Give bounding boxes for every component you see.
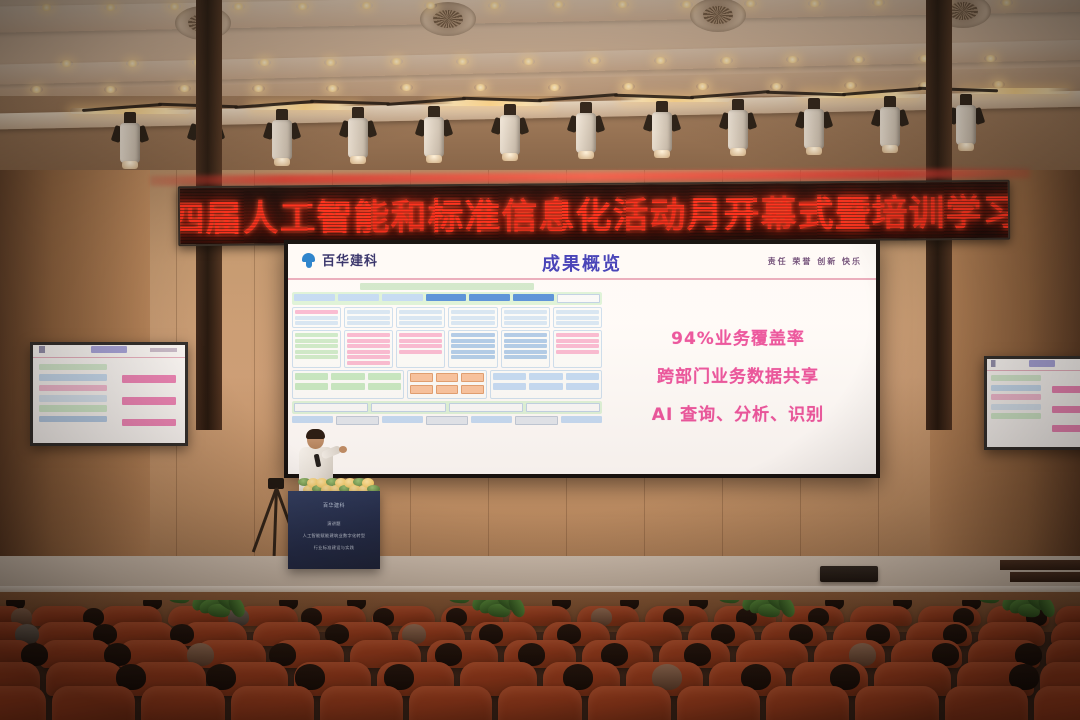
ceiling-downlight-icon (522, 58, 535, 65)
spotlight-body (880, 107, 900, 147)
diagram-line (399, 339, 442, 343)
diagram-line (451, 350, 494, 354)
auditorium-seat (855, 686, 938, 720)
stage-spotlight (424, 106, 444, 160)
diagram-chip (292, 416, 333, 423)
mon-bullet (122, 397, 176, 405)
diagram-column (292, 330, 341, 368)
conference-hall-photo: 第四届人工智能和标准信息化活动月开幕式暨培训学习会 百华建科 成果概览 责任 荣… (0, 0, 1080, 720)
diagram-chip (295, 383, 328, 390)
slide-bullet-list: 94%业务覆盖率 跨部门业务数据共享 AI 查询、分析、识别 (606, 280, 876, 468)
diagram-line (399, 350, 442, 354)
diagram-column (501, 307, 550, 328)
diagram-chip (515, 416, 558, 425)
diagram-chip (449, 403, 523, 412)
diagram-column (396, 307, 445, 328)
diagram-line (399, 333, 442, 337)
spotlight-body (728, 110, 748, 150)
spotlight-lens (654, 150, 670, 158)
ceiling-downlight-icon (1000, 0, 1013, 6)
diagram-line (556, 350, 599, 354)
mon-slide-body (987, 371, 1080, 447)
diagram-line (556, 310, 599, 314)
diagram-line (295, 344, 338, 348)
diagram-column (553, 330, 602, 368)
diagram-chip (410, 385, 433, 394)
mon-diagram-row (991, 394, 1040, 400)
mon-logo-icon (991, 360, 1015, 366)
diagram-chip (295, 373, 328, 380)
mon-slide-title (1029, 360, 1055, 367)
mon-bullet (122, 419, 176, 427)
air-diffuser-icon (690, 0, 746, 32)
ceiling-downlight-icon (720, 57, 733, 64)
diagram-line (295, 339, 338, 343)
diagram-line (556, 333, 599, 337)
led-event-banner: 第四届人工智能和标准信息化活动月开幕式暨培训学习会 (178, 180, 1010, 247)
spotlight-body (804, 109, 824, 149)
diagram-chip (471, 416, 512, 423)
stage-spotlight (500, 104, 520, 158)
diagram-chip (294, 403, 368, 412)
diagram-column (448, 307, 497, 328)
diagram-chip (426, 294, 467, 301)
ceiling-downlight-icon (696, 83, 709, 90)
diagram-chip (529, 373, 562, 380)
mon-bullet (1052, 425, 1080, 432)
diagram-line (556, 339, 599, 343)
auditorium-seat (52, 686, 135, 720)
stage-spotlight (348, 107, 368, 161)
presenter-hand (339, 446, 347, 453)
diagram-line (347, 361, 390, 365)
diagram-line (504, 321, 547, 325)
diagram-chip (557, 294, 600, 303)
plant-leaf (167, 600, 190, 604)
spotlight-lens (806, 147, 822, 155)
diagram-chip (331, 373, 364, 380)
auditorium-seat (409, 686, 492, 720)
podium-text-line: 演讲题 (327, 521, 340, 527)
diagram-line (399, 310, 442, 314)
spotlight-lens (578, 151, 594, 159)
auditorium-seat (945, 686, 1028, 720)
diagram-chip-row (295, 383, 401, 390)
diagram-line (451, 321, 494, 325)
auditorium-seat (320, 686, 403, 720)
slide-bullet: 跨部门业务数据共享 (657, 362, 819, 387)
ceiling-downlight-icon (654, 57, 667, 64)
diagram-column (501, 330, 550, 368)
audience-seating (0, 600, 1080, 720)
presenter-hair (306, 429, 325, 439)
ceiling-downlight-icon (104, 4, 117, 11)
podium: 百华建科 演讲题 人工智能赋能建筑业数字化转型 行业标准建设与实践 (288, 491, 380, 569)
mon-slide-title (91, 346, 127, 353)
stage-spotlight (120, 112, 140, 166)
mon-bullet (1052, 406, 1080, 413)
diagram-chip (526, 403, 600, 412)
left-wall-display (30, 342, 188, 446)
mon-diagram-row (991, 375, 1040, 381)
stage-spotlight (880, 96, 900, 150)
ceiling-downlight-icon (616, 1, 629, 8)
ceiling-downlight-icon (30, 86, 43, 93)
slide-bullet: 94%业务覆盖率 (671, 324, 805, 349)
ceiling-downlight-icon (474, 84, 487, 91)
diagram-line (347, 339, 390, 343)
mon-slide-header (987, 359, 1080, 371)
diagram-line (347, 321, 390, 325)
spotlight-body (348, 118, 368, 158)
auditorium-seat (588, 686, 671, 720)
diagram-line (347, 316, 390, 320)
diagram-line (295, 333, 338, 337)
diagram-chip (436, 385, 459, 394)
diagram-line (504, 339, 547, 343)
diagram-line (504, 350, 547, 354)
spotlight-lens (274, 158, 290, 166)
auditorium-seat (1034, 686, 1080, 720)
diagram-row (292, 292, 602, 305)
mon-diagram-row (991, 413, 1040, 419)
ceiling-downlight-icon (424, 2, 437, 9)
diagram-title-band (360, 283, 534, 290)
spotlight-body (956, 105, 976, 145)
diagram-line (295, 321, 338, 325)
diagram-chip (566, 373, 599, 380)
diagram-chip (513, 294, 554, 301)
diagram-group (490, 370, 602, 400)
mon-bullet (122, 375, 176, 383)
diagram-column (344, 330, 393, 368)
diagram-line (399, 316, 442, 320)
auditorium-seat (231, 686, 314, 720)
mon-slide-body (33, 358, 185, 443)
diagram-line (347, 344, 390, 348)
diagram-line (347, 355, 390, 359)
ceiling-downlight-icon (770, 83, 783, 90)
diagram-row (292, 307, 602, 328)
spotlight-body (576, 113, 596, 153)
spotlight-lens (730, 148, 746, 156)
diagram-chip (566, 383, 599, 390)
mon-diagram-row (991, 385, 1040, 391)
mon-diagram-row (39, 385, 107, 392)
slide-header: 百华建科 成果概览 责任 荣誉 创新 快乐 (288, 244, 876, 280)
diagram-chip (529, 383, 562, 390)
diagram-line (295, 310, 338, 314)
slide-bullet: AI 查询、分析、识别 (652, 400, 824, 425)
podium-logo-text: 百华建科 (323, 502, 345, 509)
right-display-slide (987, 359, 1080, 447)
diagram-line (399, 321, 442, 325)
ceiling-downlight-icon (680, 1, 693, 8)
ceiling-band-rear (0, 0, 1080, 33)
mon-diagram-row (39, 416, 107, 423)
spotlight-lens (882, 145, 898, 153)
diagram-line (295, 316, 338, 320)
ceiling-downlight-icon (808, 0, 821, 7)
auditorium-seat (498, 686, 581, 720)
podium-text-line: 行业标准建设与实践 (314, 545, 354, 551)
auditorium-seat (141, 686, 224, 720)
diagram-column (448, 330, 497, 368)
ceiling-downlight-icon (548, 84, 561, 91)
stage-spotlight (804, 98, 824, 152)
ceiling-downlight-icon (456, 58, 469, 65)
diagram-chip (331, 383, 364, 390)
diagram-chip (368, 373, 401, 380)
stage-spotlight (652, 101, 672, 155)
stage-spotlight (272, 109, 292, 163)
auditorium-seat (0, 686, 46, 720)
diagram-line (556, 344, 599, 348)
seat-row (0, 686, 1080, 720)
ceiling-downlight-icon (252, 85, 265, 92)
diagram-line (399, 344, 442, 348)
plant-leaf (447, 600, 470, 604)
plant-leaf (977, 600, 1000, 604)
diagram-chip-row (295, 373, 401, 380)
slide-tagline: 责任 荣誉 创新 快乐 (768, 256, 862, 267)
ceiling-downlight-icon (488, 2, 501, 9)
diagram-line (556, 321, 599, 325)
mon-diagram-row (39, 374, 107, 381)
diagram-line (451, 316, 494, 320)
stage-monitor-speaker (820, 566, 878, 582)
mon-diagram-row (39, 395, 107, 402)
led-banner-text: 第四届人工智能和标准信息化活动月开幕式暨培训学习会 (178, 183, 1010, 242)
diagram-row (292, 330, 602, 368)
stage-spotlight (728, 99, 748, 153)
diagram-chip (436, 373, 459, 382)
diagram-chip (336, 416, 379, 425)
diagram-chip (561, 416, 602, 423)
ceiling-downlight-icon (104, 86, 117, 93)
diagram-line (295, 350, 338, 354)
diagram-line (504, 344, 547, 348)
right-wall-display (984, 356, 1080, 450)
diagram-chip-row (493, 383, 599, 390)
stage-spotlight (956, 94, 976, 148)
diagram-chip (461, 373, 484, 382)
diagram-column (396, 330, 445, 368)
diagram-row (292, 401, 602, 414)
diagram-chip (493, 373, 526, 380)
mon-diagram (33, 358, 113, 443)
ceiling-downlight-icon (258, 59, 271, 66)
mon-slide-header (33, 345, 185, 358)
diagram-chip (338, 294, 379, 301)
diagram-chip (461, 385, 484, 394)
diagram-chip (493, 383, 526, 390)
diagram-chip (410, 373, 433, 382)
ceiling-downlight-icon (60, 60, 73, 67)
diagram-chip (294, 294, 335, 301)
ceiling-downlight-icon (40, 4, 53, 11)
ceiling-downlight-icon (232, 3, 245, 10)
podium-text-line: 人工智能赋能建筑业数字化转型 (303, 533, 366, 539)
stage-spotlight (576, 102, 596, 156)
presentation-slide: 百华建科 成果概览 责任 荣誉 创新 快乐 94%业务覆盖率 跨部门业务数据共享… (288, 244, 876, 474)
spotlight-body (652, 112, 672, 152)
diagram-line (451, 310, 494, 314)
mon-diagram-row (991, 404, 1040, 410)
mon-diagram (987, 371, 1045, 447)
spotlight-body (120, 123, 140, 163)
spotlight-lens (122, 161, 138, 169)
diagram-group (292, 370, 404, 400)
diagram-line (347, 310, 390, 314)
ceiling-downlight-icon (126, 60, 139, 67)
diagram-line (504, 310, 547, 314)
diagram-chip (368, 383, 401, 390)
spotlight-body (500, 115, 520, 155)
diagram-chip (382, 294, 423, 301)
diagram-row (292, 416, 602, 425)
diagram-line (347, 350, 390, 354)
diagram-group (407, 370, 487, 400)
diagram-column (292, 307, 341, 328)
projection-screen: 百华建科 成果概览 责任 荣誉 创新 快乐 94%业务覆盖率 跨部门业务数据共享… (284, 240, 880, 478)
ceiling-downlight-icon (296, 3, 309, 10)
mon-bullets (1045, 371, 1080, 447)
spotlight-lens (350, 156, 366, 164)
spotlight-lens (958, 143, 974, 151)
ceiling-downlight-icon (326, 85, 339, 92)
stage-step (1000, 560, 1080, 570)
ceiling-downlight-icon (852, 56, 865, 63)
diagram-line (451, 333, 494, 337)
diagram-row (292, 370, 602, 400)
auditorium-seat (677, 686, 760, 720)
diagram-chip (371, 403, 445, 412)
diagram-line (295, 355, 338, 359)
mon-slide-tagline (150, 348, 177, 351)
diagram-chip-row (493, 373, 599, 380)
mon-logo-icon (39, 346, 72, 353)
ceiling-downlight-icon (324, 59, 337, 66)
mon-bullets (113, 358, 185, 443)
diagram-chip (426, 416, 469, 425)
diagram-line (504, 333, 547, 337)
stage-step (1010, 572, 1080, 582)
spotlight-lens (426, 155, 442, 163)
plant-leaf (717, 600, 740, 604)
diagram-line (504, 355, 547, 359)
diagram-line (347, 333, 390, 337)
mon-bullet (1052, 386, 1080, 393)
diagram-chip (469, 294, 510, 301)
diagram-line (451, 344, 494, 348)
spotlight-body (272, 120, 292, 160)
diagram-column (553, 307, 602, 328)
slide-body: 94%业务覆盖率 跨部门业务数据共享 AI 查询、分析、识别 (288, 280, 876, 468)
spotlight-body (424, 117, 444, 157)
auditorium-seat (766, 686, 849, 720)
diagram-line (451, 339, 494, 343)
diagram-chip-row (410, 373, 484, 382)
left-display-slide (33, 345, 185, 443)
diagram-chip-row (410, 385, 484, 394)
diagram-chip (382, 416, 423, 423)
spotlight-lens (502, 153, 518, 161)
diagram-line (504, 316, 547, 320)
diagram-column (344, 307, 393, 328)
mon-diagram-row (39, 405, 107, 412)
mon-diagram-row (39, 364, 107, 371)
diagram-line (556, 316, 599, 320)
diagram-line (451, 355, 494, 359)
